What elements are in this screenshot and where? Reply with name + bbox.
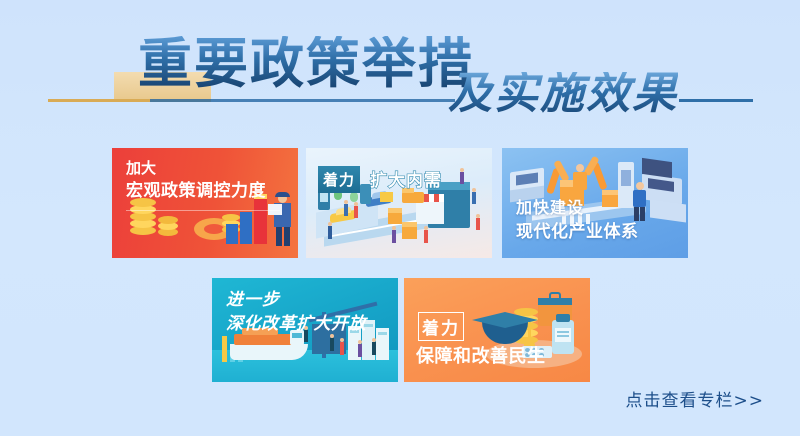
card-reform-opening-caption: 进一步 深化改革扩大开放 bbox=[226, 290, 366, 334]
page-canvas: 重要政策举措 及实施效果 bbox=[0, 0, 800, 436]
card-expand-demand-illustration bbox=[306, 148, 492, 258]
card-macro-policy-line2: 宏观政策调控力度 bbox=[126, 181, 266, 201]
card-macro-policy-line1: 加大 bbox=[126, 160, 266, 178]
title-rule-blue-right bbox=[679, 99, 753, 102]
page-title: 重要政策举措 bbox=[138, 36, 474, 90]
title-rule-blue-middle bbox=[150, 99, 455, 102]
view-column-link[interactable]: 点击查看专栏>> bbox=[626, 386, 765, 411]
page-header: 重要政策举措 及实施效果 bbox=[0, 0, 800, 140]
card-expand-demand[interactable]: 着力 扩大内需 bbox=[306, 148, 492, 258]
card-modern-industry[interactable]: 加快建设 现代化产业体系 bbox=[502, 148, 688, 258]
card-reform-opening[interactable]: 进一步 深化改革扩大开放 bbox=[212, 278, 398, 382]
card-modern-industry-line2: 现代化产业体系 bbox=[516, 222, 639, 242]
card-macro-policy-divider bbox=[126, 210, 280, 211]
card-peoples-livelihood[interactable]: 着力 保障和改善民生 bbox=[404, 278, 590, 382]
card-macro-policy-caption: 加大 宏观政策调控力度 bbox=[126, 160, 266, 201]
card-peoples-livelihood-badge: 着力 bbox=[418, 312, 464, 341]
card-peoples-livelihood-badge-text: 着力 bbox=[418, 312, 464, 341]
page-subtitle: 及实施效果 bbox=[448, 72, 678, 116]
card-expand-demand-badge: 着力 bbox=[318, 166, 360, 193]
card-modern-industry-line1: 加快建设 bbox=[516, 199, 639, 218]
card-modern-industry-caption: 加快建设 现代化产业体系 bbox=[516, 199, 639, 242]
card-peoples-livelihood-caption: 保障和改善民生 bbox=[416, 342, 546, 368]
card-reform-opening-line1: 进一步 bbox=[226, 290, 366, 310]
card-reform-opening-line2: 深化改革扩大开放 bbox=[226, 314, 366, 334]
card-expand-demand-caption: 扩大内需 bbox=[370, 166, 442, 191]
card-macro-policy[interactable]: 加大 宏观政策调控力度 bbox=[112, 148, 298, 258]
